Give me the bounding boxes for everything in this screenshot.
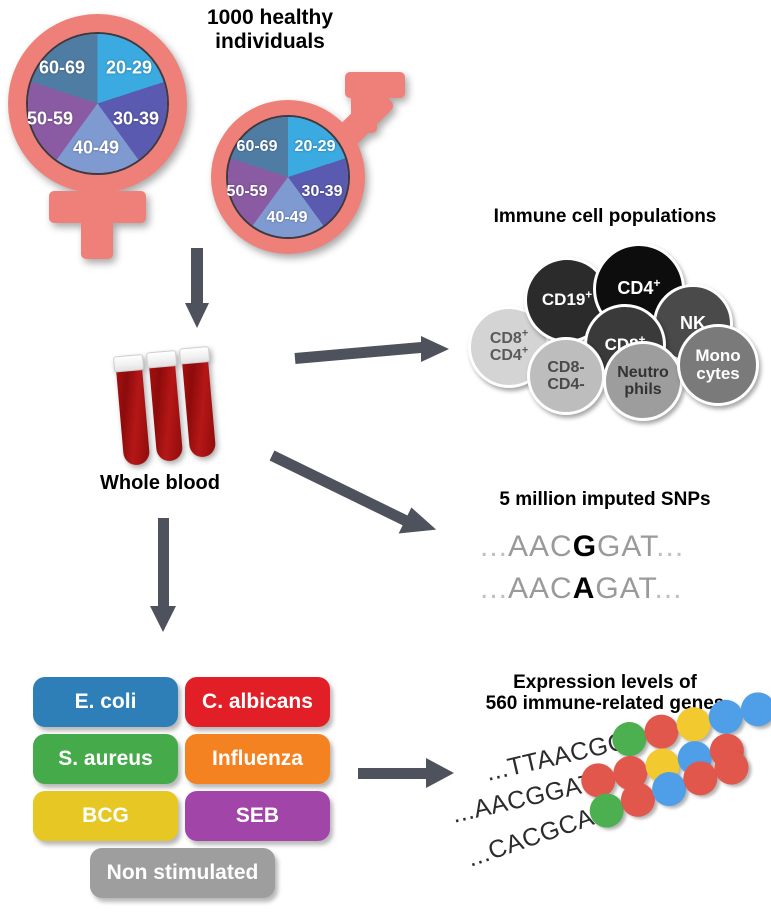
arrow-shaft — [270, 451, 414, 529]
tube-body — [116, 364, 151, 466]
arrow-head — [185, 303, 209, 328]
pie-label-40-49: 40-49 — [267, 209, 308, 227]
pie-label-30-39: 30-39 — [113, 109, 159, 130]
snp-suffix: GAT — [595, 572, 654, 605]
tube-cap — [146, 350, 177, 369]
tube-body — [149, 360, 184, 462]
pie-label-20-29: 20-29 — [106, 58, 152, 79]
pie-label-60-69: 60-69 — [39, 58, 85, 79]
snp-sequence-row: ...AACGGAT... — [480, 530, 684, 564]
arrow-shaft — [358, 768, 428, 779]
stim-label: Influenza — [212, 747, 303, 771]
arrow-blood-to-snp — [272, 450, 462, 540]
snp-prefix: AAC — [508, 572, 573, 605]
snp-sequence-row: ...AACAGAT... — [480, 572, 683, 606]
immune-cell-label: Monocytes — [695, 347, 740, 384]
snp-variant-allele: A — [573, 572, 596, 605]
tube-cap — [179, 346, 210, 365]
immune-cell-label: Neutrophils — [617, 364, 669, 399]
snp-prefix: AAC — [508, 530, 573, 563]
stim-box-bcg[interactable]: BCG — [33, 791, 178, 841]
pie-label-40-49: 40-49 — [73, 138, 119, 159]
immune-cell-cd8-cd4-negative: CD8-CD4- — [527, 337, 605, 415]
stim-box-e-coli[interactable]: E. coli — [33, 677, 178, 727]
arrow-blood-to-immune — [295, 330, 455, 370]
arrow-head — [426, 758, 454, 788]
arrow-blood-to-stim — [145, 518, 185, 638]
stim-label: C. albicans — [202, 690, 313, 714]
expression-bead — [641, 711, 682, 752]
immune-title: Immune cell populations — [440, 206, 770, 227]
whole-blood-label: Whole blood — [60, 472, 260, 494]
snp-flank-left: ... — [480, 530, 508, 563]
immune-cell-label: CD8-CD4- — [547, 359, 584, 394]
pie-label-20-29: 20-29 — [295, 138, 336, 156]
tube-body — [182, 356, 217, 458]
snp-suffix: GAT — [597, 530, 656, 563]
arrow-shaft — [191, 248, 203, 306]
stim-label: BCG — [82, 804, 129, 828]
expression-strands: ...TTAACGG ...AACGGAT ...CACGCAA — [455, 730, 771, 915]
stim-label: E. coli — [75, 690, 137, 714]
immune-cell-cluster: CD8+CD4+ CD19+ CD4+ NK CD8+ CD8-CD4- Neu… — [455, 240, 765, 415]
stim-box-influenza[interactable]: Influenza — [185, 734, 330, 784]
pie-label-50-59: 50-59 — [27, 109, 73, 130]
stim-box-seb[interactable]: SEB — [185, 791, 330, 841]
stim-label: Non stimulated — [107, 861, 259, 885]
snp-flank-right: ... — [655, 572, 683, 605]
snp-variant-allele: G — [573, 530, 597, 563]
tube-cap — [113, 354, 144, 373]
male-symbol: 20-29 30-39 40-49 50-59 60-69 — [205, 70, 405, 250]
immune-cell-label: CD19+ — [542, 291, 592, 309]
arrow-shaft — [158, 518, 169, 610]
figure-canvas: 1000 healthy individuals 20-29 30-39 40-… — [0, 0, 771, 922]
snp-flank-right: ... — [656, 530, 684, 563]
stimulation-panel: E. coli C. albicans S. aureus Influenza … — [33, 677, 333, 897]
stim-box-non-stimulated[interactable]: Non stimulated — [90, 848, 275, 898]
stim-box-s-aureus[interactable]: S. aureus — [33, 734, 178, 784]
stim-label: SEB — [236, 804, 279, 828]
arrow-cohort-to-blood — [178, 248, 218, 332]
female-stem-cross — [49, 191, 146, 223]
male-arrow-head-side — [345, 72, 405, 98]
pie-label-50-59: 50-59 — [227, 183, 268, 201]
arrow-head — [421, 336, 449, 362]
stim-label: S. aureus — [58, 747, 153, 771]
arrow-shaft — [295, 342, 425, 364]
arrow-stim-to-expression — [358, 760, 468, 790]
snp-flank-left: ... — [480, 572, 508, 605]
immune-cell-neutrophils: Neutrophils — [603, 341, 683, 421]
snp-title: 5 million imputed SNPs — [455, 489, 755, 510]
pie-label-60-69: 60-69 — [237, 138, 278, 156]
immune-cell-monocytes: Monocytes — [677, 324, 759, 406]
pie-label-30-39: 30-39 — [302, 183, 343, 201]
snp-sequences: ...AACGGAT... ...AACAGAT... — [480, 530, 750, 620]
cohort-title: 1000 healthy individuals — [170, 6, 370, 53]
immune-cell-label: CD8+CD4+ — [490, 330, 528, 365]
whole-blood-tubes — [118, 335, 248, 465]
arrow-head — [150, 606, 176, 632]
immune-cell-label: CD4+ — [617, 279, 660, 298]
female-symbol: 20-29 30-39 40-49 50-59 60-69 — [8, 14, 193, 264]
stim-box-c-albicans[interactable]: C. albicans — [185, 677, 330, 727]
